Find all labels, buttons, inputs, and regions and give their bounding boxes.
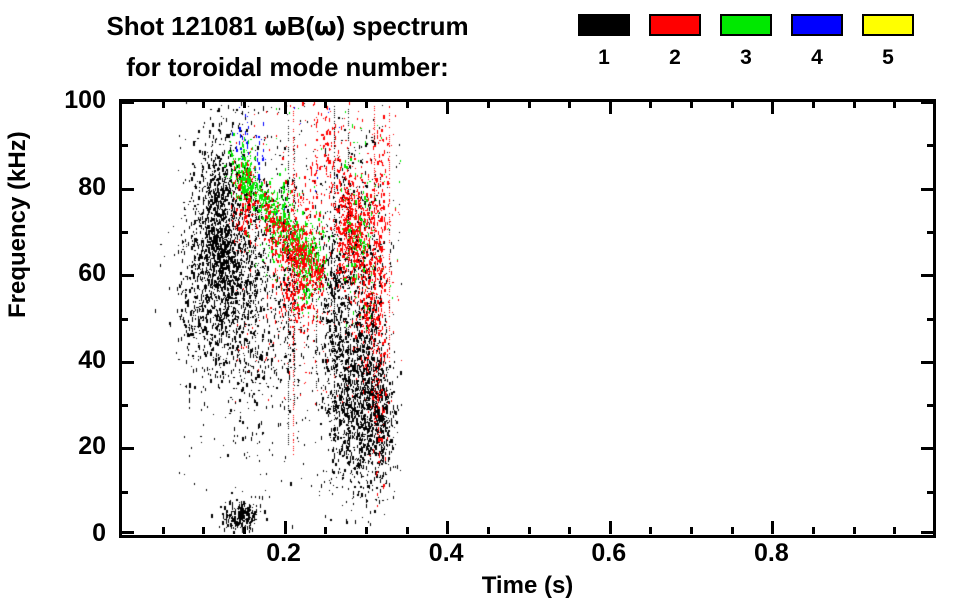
x-tick-bottom-0.2 bbox=[284, 521, 287, 534]
x-tick-top-0.5 bbox=[528, 101, 531, 108]
y-tick-left-0 bbox=[121, 531, 134, 534]
y-tick-right-10 bbox=[927, 491, 934, 494]
y-tick-left-30 bbox=[121, 404, 128, 407]
x-tick-top-0.15 bbox=[243, 101, 246, 108]
x-tick-top-0.3 bbox=[365, 101, 368, 108]
title-prefix: Shot 121081 bbox=[107, 11, 265, 41]
x-tick-top-0.9 bbox=[853, 101, 856, 108]
legend-entry-n2: 2 bbox=[649, 14, 701, 70]
y-tick-right-100 bbox=[921, 101, 934, 104]
x-tick-top-0.95 bbox=[893, 101, 896, 108]
y-tick-left-60 bbox=[121, 274, 134, 277]
x-tick-top-0.1 bbox=[202, 101, 205, 108]
x-tick-bottom-0.4 bbox=[446, 521, 449, 534]
x-tick-label-0.2: 0.2 bbox=[244, 541, 324, 566]
y-tick-right-70 bbox=[927, 231, 934, 234]
x-tick-bottom-0.25 bbox=[324, 527, 327, 534]
y-tick-label-60: 60 bbox=[78, 261, 106, 286]
y-tick-left-80 bbox=[121, 188, 134, 191]
y-tick-right-40 bbox=[921, 361, 934, 364]
x-tick-top-0.25 bbox=[324, 101, 327, 108]
y-tick-label-80: 80 bbox=[78, 175, 106, 200]
legend-label-n3: 3 bbox=[720, 46, 772, 70]
y-tick-right-20 bbox=[921, 447, 934, 450]
x-tick-bottom-0.05 bbox=[162, 527, 165, 534]
y-tick-left-70 bbox=[121, 231, 128, 234]
x-tick-top-0.35 bbox=[406, 101, 409, 108]
x-axis-title: Time (s) bbox=[121, 572, 934, 600]
y-axis-title: Frequency (kHz) bbox=[4, 131, 32, 318]
x-tick-top-0.4 bbox=[446, 101, 449, 114]
x-tick-bottom-0.9 bbox=[853, 527, 856, 534]
y-tick-left-10 bbox=[121, 491, 128, 494]
figure-title-line-1: Shot 121081 ωB(ω) spectrum bbox=[0, 6, 575, 47]
legend-entry-n1: 1 bbox=[578, 14, 630, 70]
x-tick-bottom-0.3 bbox=[365, 527, 368, 534]
x-axis-tick-labels: 0.20.40.60.8 bbox=[121, 541, 934, 573]
x-tick-label-0.4: 0.4 bbox=[406, 541, 486, 566]
legend-label-n5: 5 bbox=[862, 46, 914, 70]
x-tick-bottom-0.45 bbox=[487, 527, 490, 534]
y-tick-label-0: 0 bbox=[92, 521, 106, 546]
x-tick-top-0.6 bbox=[609, 101, 612, 114]
y-tick-right-80 bbox=[921, 188, 934, 191]
figure-title-line-2: for toroidal mode number: bbox=[0, 47, 575, 87]
x-tick-bottom-0.5 bbox=[528, 527, 531, 534]
x-tick-bottom-0.65 bbox=[649, 527, 652, 534]
x-tick-bottom-0.1 bbox=[202, 527, 205, 534]
x-tick-bottom-0.8 bbox=[771, 521, 774, 534]
x-tick-top-0.8 bbox=[771, 101, 774, 114]
spectrogram-scatter-canvas bbox=[121, 101, 934, 534]
x-tick-top-0.55 bbox=[568, 101, 571, 108]
x-tick-top-0.65 bbox=[649, 101, 652, 108]
x-tick-bottom-0.35 bbox=[406, 527, 409, 534]
omega-symbol-2: ω bbox=[314, 12, 337, 42]
legend: 12345 bbox=[578, 14, 914, 70]
x-tick-bottom-0.15 bbox=[243, 527, 246, 534]
legend-swatch-n1 bbox=[578, 14, 630, 36]
y-tick-left-40 bbox=[121, 361, 134, 364]
figure-title: Shot 121081 ωB(ω) spectrum for toroidal … bbox=[0, 6, 575, 87]
y-tick-right-30 bbox=[927, 404, 934, 407]
legend-label-n1: 1 bbox=[578, 46, 630, 70]
legend-entry-n4: 4 bbox=[791, 14, 843, 70]
x-tick-top-0.7 bbox=[690, 101, 693, 108]
x-tick-top-0.2 bbox=[284, 101, 287, 114]
x-tick-bottom-0.95 bbox=[893, 527, 896, 534]
y-tick-label-20: 20 bbox=[78, 434, 106, 459]
legend-label-n4: 4 bbox=[791, 46, 843, 70]
legend-entry-n3: 3 bbox=[720, 14, 772, 70]
omega-symbol-1: ω bbox=[264, 12, 287, 42]
y-tick-right-0 bbox=[921, 531, 934, 534]
legend-entry-n5: 5 bbox=[862, 14, 914, 70]
y-tick-right-50 bbox=[927, 318, 934, 321]
title-suffix: ) spectrum bbox=[337, 11, 469, 41]
y-tick-left-90 bbox=[121, 144, 128, 147]
y-tick-left-50 bbox=[121, 318, 128, 321]
legend-swatch-n3 bbox=[720, 14, 772, 36]
plot-area bbox=[121, 101, 934, 534]
x-tick-bottom-0.75 bbox=[731, 527, 734, 534]
x-tick-top-0.85 bbox=[812, 101, 815, 108]
x-tick-bottom-0.85 bbox=[812, 527, 815, 534]
spectrogram-figure: Shot 121081 ωB(ω) spectrum for toroidal … bbox=[0, 0, 963, 615]
y-tick-right-90 bbox=[927, 144, 934, 147]
y-tick-label-40: 40 bbox=[78, 348, 106, 373]
legend-swatch-n4 bbox=[791, 14, 843, 36]
title-mid: B( bbox=[287, 11, 314, 41]
x-tick-top-0.05 bbox=[162, 101, 165, 108]
y-tick-right-60 bbox=[921, 274, 934, 277]
x-tick-bottom-0.55 bbox=[568, 527, 571, 534]
legend-swatch-n2 bbox=[649, 14, 701, 36]
x-tick-top-0.45 bbox=[487, 101, 490, 108]
x-tick-bottom-0.7 bbox=[690, 527, 693, 534]
x-tick-label-0.6: 0.6 bbox=[569, 541, 649, 566]
y-tick-left-100 bbox=[121, 101, 134, 104]
legend-swatch-n5 bbox=[862, 14, 914, 36]
x-tick-label-0.8: 0.8 bbox=[731, 541, 811, 566]
axis-line-bottom bbox=[119, 535, 936, 538]
y-tick-label-100: 100 bbox=[64, 88, 106, 113]
x-tick-top-0.75 bbox=[731, 101, 734, 108]
y-tick-left-20 bbox=[121, 447, 134, 450]
x-tick-bottom-0.6 bbox=[609, 521, 612, 534]
legend-label-n2: 2 bbox=[649, 46, 701, 70]
